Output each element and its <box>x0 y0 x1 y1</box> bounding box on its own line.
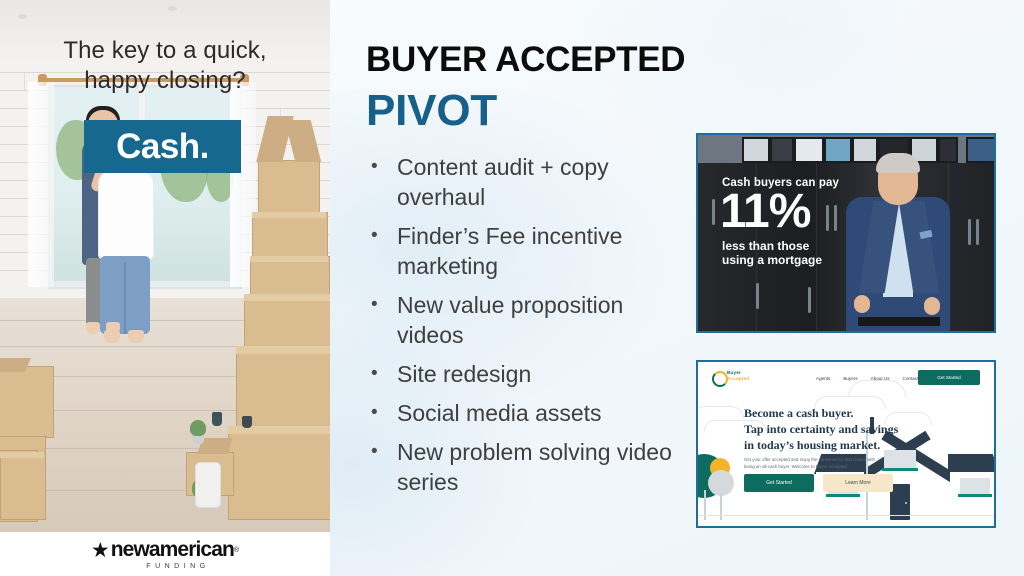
hero-line-2: Tap into certainty and savings <box>744 421 898 437</box>
list-item-label: Site redesign <box>397 359 531 389</box>
air-purifier <box>195 462 221 508</box>
brand-subtitle: FUNDING <box>146 563 209 570</box>
list-item-label: New value proposition videos <box>397 290 676 350</box>
video-caption-bottom-line1: less than those <box>722 239 822 253</box>
slide-canvas: The key to a quick, happy closing? Cash.… <box>0 0 1024 576</box>
nav-item-buyers[interactable]: Buyers <box>843 376 857 381</box>
hero-learn-more-button[interactable]: Learn More <box>823 474 893 492</box>
bullet-list: • Content audit + copy overhaul • Finder… <box>366 152 676 506</box>
bullet-marker-icon: • <box>366 221 397 251</box>
moving-box <box>244 294 330 348</box>
left-photo-panel: The key to a quick, happy closing? Cash.… <box>0 0 330 576</box>
website-logo-line1: Buyer <box>727 370 741 375</box>
curtain-left <box>28 82 54 287</box>
nav-item-agents[interactable]: Agents <box>816 376 830 381</box>
moving-box <box>228 426 330 520</box>
headline-line-2: happy closing? <box>0 66 330 96</box>
list-item: • Site redesign <box>366 359 676 389</box>
list-item: • Social media assets <box>366 398 676 428</box>
nav-item-about-us[interactable]: About Us <box>871 376 890 381</box>
headline-line-1: The key to a quick, <box>0 36 330 66</box>
star-icon: ★ <box>91 540 110 561</box>
bullet-marker-icon: • <box>366 290 397 320</box>
hero-line-1: Become a cash buyer. <box>744 405 898 421</box>
moving-box <box>258 160 320 214</box>
left-headline: The key to a quick, happy closing? <box>0 36 330 96</box>
list-item-label: New problem solving video series <box>397 437 676 497</box>
moving-box <box>0 366 54 438</box>
page-title-secondary: PIVOT <box>366 86 497 136</box>
page-title-primary: BUYER ACCEPTED <box>366 40 685 80</box>
list-item: • New problem solving video series <box>366 437 676 497</box>
website-screenshot[interactable]: Buyer Accepted Agents Buyers About Us Co… <box>696 360 996 528</box>
website-logo-line2: Accepted <box>727 376 749 381</box>
moving-box <box>250 256 330 296</box>
cash-badge: Cash. <box>84 120 241 173</box>
list-item-label: Finder’s Fee incentive marketing <box>397 221 676 281</box>
website-hero-paragraph: Get your offer accepted and enjoy the co… <box>744 456 879 470</box>
buyer-accepted-logo-icon <box>712 371 728 387</box>
list-item: • New value proposition videos <box>366 290 676 350</box>
brand-name: newamerican <box>111 538 234 562</box>
person-woman <box>98 170 154 260</box>
video-caption-bottom: less than those using a mortgage <box>722 239 822 267</box>
brand-logo-strip: ★ newamerican ® FUNDING <box>0 532 330 576</box>
website-navbar: Buyer Accepted Agents Buyers About Us Co… <box>698 362 994 394</box>
bullet-marker-icon: • <box>366 437 397 467</box>
video-thumbnail[interactable]: Cash buyers can pay 11% less than those … <box>696 133 996 333</box>
hero-line-3: in today’s housing market. <box>744 437 898 453</box>
list-item: • Content audit + copy overhaul <box>366 152 676 212</box>
video-stat: 11% <box>720 188 810 236</box>
hero-get-started-button[interactable]: Get Started <box>744 474 814 492</box>
nav-get-started-button[interactable]: Get Started <box>918 370 980 385</box>
list-item-label: Social media assets <box>397 398 602 428</box>
bullet-marker-icon: • <box>366 398 397 428</box>
video-caption-bottom-line2: using a mortgage <box>722 253 822 267</box>
list-item-label: Content audit + copy overhaul <box>397 152 676 212</box>
moving-box <box>0 452 46 520</box>
website-viewport: Buyer Accepted Agents Buyers About Us Co… <box>698 362 994 526</box>
list-item: • Finder’s Fee incentive marketing <box>366 221 676 281</box>
website-hero-heading: Become a cash buyer. Tap into certainty … <box>744 405 898 453</box>
cash-badge-label: Cash. <box>116 127 209 167</box>
bullet-marker-icon: • <box>366 152 397 182</box>
registered-mark: ® <box>234 547 239 554</box>
moving-box <box>252 212 328 258</box>
bullet-marker-icon: • <box>366 359 397 389</box>
